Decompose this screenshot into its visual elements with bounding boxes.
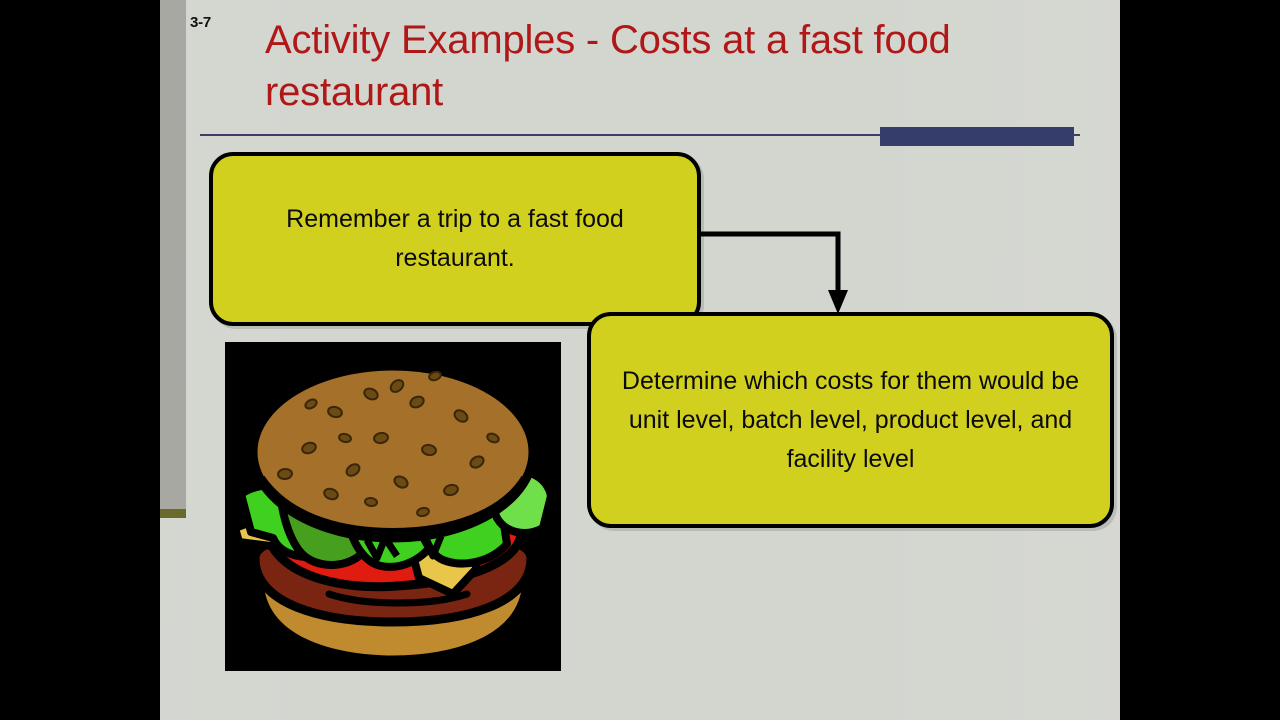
page-title: Activity Examples - Costs at a fast food… — [265, 14, 1085, 118]
title-accent-bar — [880, 127, 1074, 146]
hamburger-clipart — [225, 342, 561, 671]
slide-canvas: 3-7 Activity Examples - Costs at a fast … — [160, 0, 1120, 720]
callout-remember-text: Remember a trip to a fast food restauran… — [213, 200, 697, 278]
callout-determine: Determine which costs for them would be … — [587, 312, 1114, 528]
left-decorative-band-foot — [160, 509, 186, 518]
slide-number: 3-7 — [190, 14, 211, 31]
letterbox-left — [0, 0, 160, 720]
slide-viewer: 3-7 Activity Examples - Costs at a fast … — [0, 0, 1280, 720]
callout-remember: Remember a trip to a fast food restauran… — [209, 152, 701, 326]
callout-determine-text: Determine which costs for them would be … — [591, 362, 1110, 479]
left-decorative-band — [160, 0, 186, 509]
letterbox-right — [1120, 0, 1280, 720]
elbow-arrow-icon — [690, 228, 870, 320]
